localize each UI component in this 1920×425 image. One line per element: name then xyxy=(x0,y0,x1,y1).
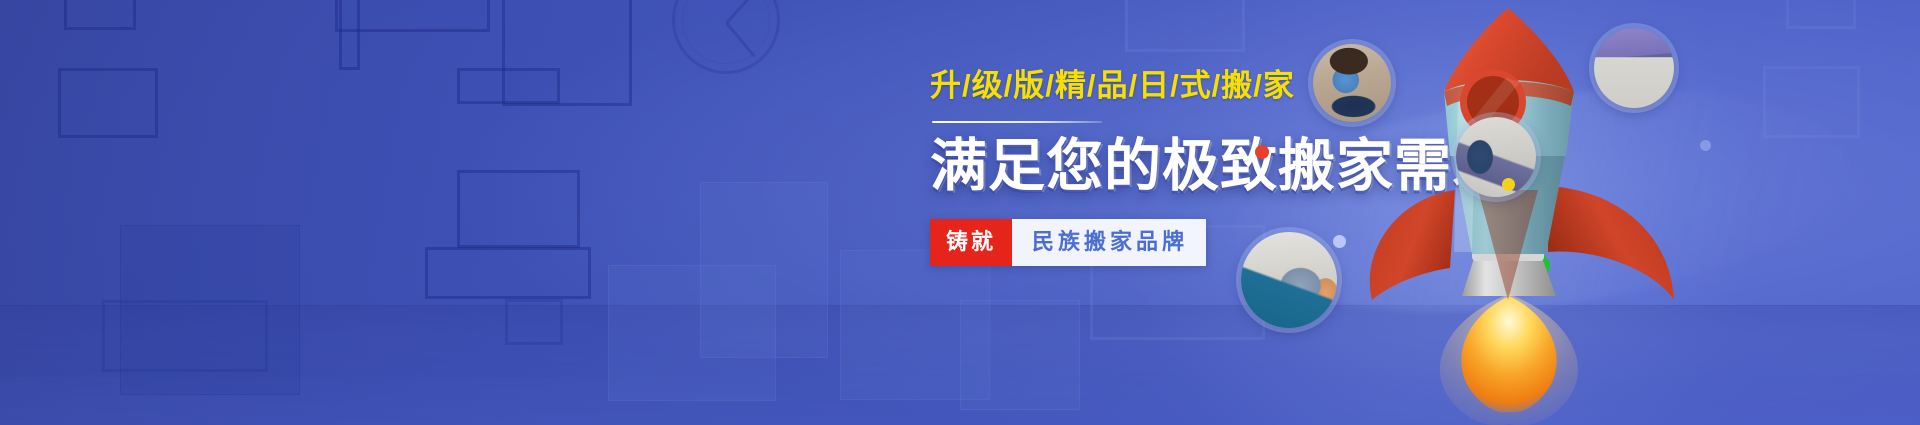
ghost-box-outline xyxy=(502,0,632,106)
ghost-crate xyxy=(608,265,776,401)
ghost-box-outline xyxy=(425,247,591,299)
appliance-photo-bubble xyxy=(1594,28,1674,108)
accent-dot-yellow xyxy=(1502,178,1515,191)
ghost-box-outline xyxy=(457,170,580,248)
hero-banner: 升/级/版/精/品/日/式/搬/家 满足您的极致搬家需求 铸就 民族搬家品牌 xyxy=(0,0,1920,425)
ghost-box-outline xyxy=(339,0,360,70)
ghost-box-outline xyxy=(505,299,563,345)
tagline-text: 民族搬家品牌 xyxy=(1012,219,1206,266)
ghost-box-outline xyxy=(1786,0,1856,29)
ghost-crate xyxy=(960,300,1080,410)
accent-dot-red xyxy=(1255,145,1269,159)
appliance-photo xyxy=(1594,28,1674,108)
ghost-box-outline xyxy=(58,68,158,138)
ghost-box-outline xyxy=(1763,66,1860,138)
ghost-crate xyxy=(120,225,300,395)
divider-rule xyxy=(932,121,1102,123)
tagline-group: 铸就 民族搬家品牌 xyxy=(930,219,1206,266)
crates-photo-bubble xyxy=(1241,232,1337,328)
worker-photo-bubble xyxy=(1313,44,1391,122)
clock-dial xyxy=(682,0,770,64)
porthole-photo-bubble xyxy=(1456,117,1536,197)
ghost-box-outline xyxy=(64,0,136,30)
rocket-left-fin xyxy=(1370,190,1455,300)
wall-clock-icon xyxy=(672,0,780,74)
rocket-right-fin xyxy=(1548,186,1674,300)
crates-photo xyxy=(1241,232,1337,328)
worker-photo xyxy=(1313,44,1391,122)
tagline-badge: 铸就 xyxy=(930,219,1012,266)
ghost-box-outline xyxy=(1125,0,1245,52)
mover-photo xyxy=(1456,117,1536,197)
